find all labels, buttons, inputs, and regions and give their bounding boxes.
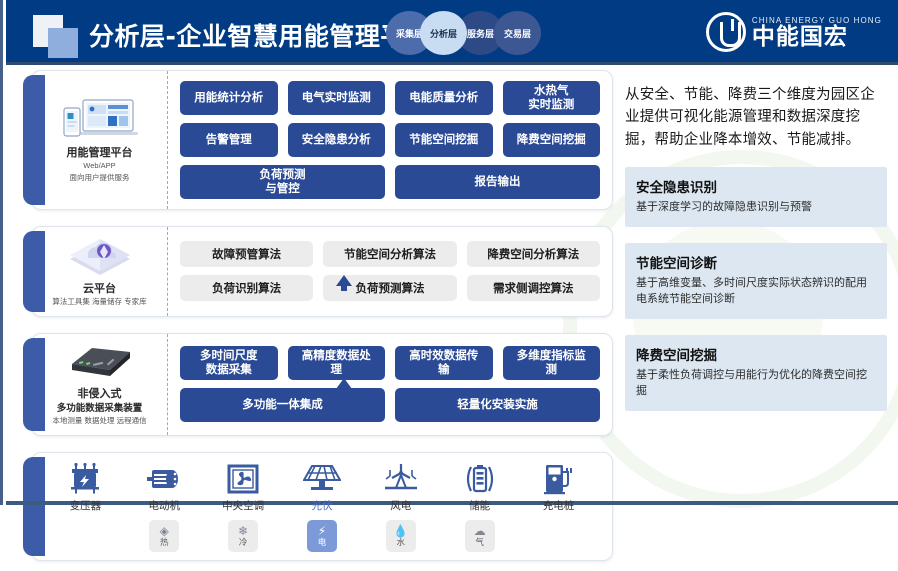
feature-card-title: 节能空间诊断	[636, 252, 876, 272]
device-label: 电动机	[149, 498, 181, 513]
tag-item[interactable]: 多时间尺度 数据采集	[180, 346, 278, 380]
panel-identity-device: 非侵入式 多功能数据采集装置 本地测量 数据处理 远程通信	[32, 334, 168, 435]
layer-circle-analysis[interactable]: 分析层	[420, 11, 467, 55]
panel-subtitle-2: 面向用户提供服务	[70, 173, 130, 184]
chip-placeholder	[70, 520, 100, 552]
tag-item[interactable]: 告警管理	[180, 123, 278, 157]
tag-item[interactable]: 故障预管算法	[180, 241, 313, 267]
chip-label: 电	[318, 538, 327, 547]
cold-icon: ❄	[238, 525, 248, 537]
panel-subtitle-1: 算法工具集 海量储存 专家库	[52, 297, 146, 308]
device-label: 变压器	[70, 498, 102, 513]
motor-icon	[146, 463, 182, 495]
water-icon: 💧	[393, 525, 408, 537]
panel-tags-device: 多时间尺度 数据采集 高精度数据处理 高时效数据传输 多维度指标监测 多功能一体…	[168, 334, 612, 435]
device-label: 储能	[469, 498, 490, 513]
ev-charger-icon	[541, 463, 575, 495]
tag-item[interactable]: 轻量化安装实施	[395, 388, 600, 422]
hvac-icon	[227, 463, 259, 495]
tag-item[interactable]: 电气实时监测	[288, 81, 386, 115]
device-charger[interactable]: 充电桩	[522, 463, 594, 552]
tag-item[interactable]: 用能统计分析	[180, 81, 278, 115]
feature-card-title: 降费空间挖掘	[636, 344, 876, 364]
tag-item[interactable]: 安全隐患分析	[288, 123, 386, 157]
transformer-icon	[68, 463, 102, 495]
device-wind[interactable]: 风电 💧 水	[365, 463, 437, 552]
laptop-dashboard-icon	[61, 97, 139, 141]
device-label: 中央空调	[222, 498, 264, 513]
chip-label: 气	[475, 538, 484, 547]
cloud-platform-icon	[64, 235, 136, 277]
tag-item[interactable]: 多功能一体集成	[180, 388, 385, 422]
intro-paragraph: 从安全、节能、降费三个维度为园区企业提供可视化能源管理和数据深度挖掘，帮助企业降…	[625, 84, 887, 151]
logo-square-blue	[48, 28, 78, 58]
panel-title: 非侵入式	[78, 387, 122, 401]
panel-tags-cloud: 故障预管算法 节能空间分析算法 降费空间分析算法 负荷识别算法 负荷预测算法 需…	[168, 227, 612, 316]
device-label: 充电桩	[543, 498, 575, 513]
tag-item[interactable]: 水热气 实时监测	[503, 81, 601, 115]
power-icon: ⚡	[318, 525, 326, 537]
flow-arrow-up	[336, 181, 352, 192]
device-label: 风电	[390, 498, 411, 513]
panel-identity-platform: 用能管理平台 Web/APP 面向用户提供服务	[32, 71, 168, 209]
energy-chip-water[interactable]: 💧 水	[386, 520, 416, 552]
gas-icon: ☁	[474, 525, 486, 537]
header-underline	[6, 62, 898, 65]
flow-arrow-up	[336, 275, 352, 286]
layer-panel-cloud: 云平台 算法工具集 海量储存 专家库 故障预管算法 节能空间分析算法 降费空间分…	[31, 226, 613, 317]
panel-title: 云平台	[83, 282, 116, 296]
company-mark-icon	[706, 12, 746, 52]
panel-identity-cloud: 云平台 算法工具集 海量储存 专家库	[32, 227, 168, 316]
feature-card-desc: 基于柔性负荷调控与用能行为优化的降费空间挖掘	[636, 367, 876, 400]
battery-icon	[463, 463, 497, 495]
device-transformer[interactable]: 变压器	[49, 463, 121, 552]
chip-label: 热	[160, 538, 169, 547]
tag-item[interactable]: 负荷预测 与管控	[180, 165, 385, 199]
feature-card-desc: 基于深度学习的故障隐患识别与预警	[636, 199, 876, 216]
panel-subtitle-1: 多功能数据采集装置	[57, 402, 143, 415]
chip-label: 冷	[239, 538, 248, 547]
solar-panel-icon	[303, 463, 341, 495]
feature-card-title: 安全隐患识别	[636, 176, 876, 196]
right-column: 从安全、节能、降费三个维度为园区企业提供可视化能源管理和数据深度挖掘，帮助企业降…	[625, 84, 887, 411]
flow-arrow-up	[336, 378, 352, 389]
tag-item[interactable]: 报告输出	[395, 165, 600, 199]
layer-stack: 用能管理平台 Web/APP 面向用户提供服务 用能统计分析 电气实时监测 电能…	[31, 70, 613, 571]
tag-item[interactable]: 降费空间分析算法	[467, 241, 600, 267]
tag-item[interactable]: 需求侧调控算法	[467, 275, 600, 301]
device-motor[interactable]: 电动机 ◈ 热	[128, 463, 200, 552]
layer-panel-device: 非侵入式 多功能数据采集装置 本地测量 数据处理 远程通信 多时间尺度 数据采集…	[31, 333, 613, 436]
tag-item[interactable]: 电能质量分析	[395, 81, 493, 115]
tag-item[interactable]: 节能空间分析算法	[323, 241, 456, 267]
device-hvac[interactable]: 中央空调 ❄ 冷	[207, 463, 279, 552]
chip-placeholder	[543, 520, 573, 552]
feature-card-cost: 降费空间挖掘 基于柔性负荷调控与用能行为优化的降费空间挖掘	[625, 335, 887, 411]
device-row: 变压器	[32, 453, 612, 560]
device-label: 光伏	[311, 498, 332, 513]
feature-card-efficiency: 节能空间诊断 基于高维变量、多时间尺度实际状态辨识的配用电系统节能空间诊断	[625, 243, 887, 319]
company-name-cn: 中能国宏	[752, 26, 882, 49]
tag-item[interactable]: 负荷识别算法	[180, 275, 313, 301]
heat-icon: ◈	[160, 525, 169, 537]
data-collector-box-icon	[62, 342, 138, 382]
panel-subtitle-2: 本地测量 数据处理 远程通信	[52, 416, 146, 427]
tag-item[interactable]: 高精度数据处理	[288, 346, 386, 380]
energy-chip-power[interactable]: ⚡ 电	[307, 520, 337, 552]
feature-card-desc: 基于高维变量、多时间尺度实际状态辨识的配用电系统节能空间诊断	[636, 275, 876, 308]
chip-label: 水	[397, 538, 406, 547]
slide-root: 分析层-企业智慧用能管理平台 采集层 服务层 交易层 分析层 CHINA ENE…	[0, 0, 898, 505]
panel-tags-platform: 用能统计分析 电气实时监测 电能质量分析 水热气 实时监测 告警管理 安全隐患分…	[168, 71, 612, 209]
energy-chip-heat[interactable]: ◈ 热	[149, 520, 179, 552]
panel-subtitle-1: Web/APP	[83, 161, 115, 172]
tag-item[interactable]: 多维度指标监测	[503, 346, 601, 380]
wind-turbine-icon	[383, 463, 419, 495]
layer-circle-trade[interactable]: 交易层	[494, 11, 541, 55]
device-storage[interactable]: 储能 ☁ 气	[444, 463, 516, 552]
tag-item[interactable]: 降费空间挖掘	[503, 123, 601, 157]
page-title: 分析层-企业智慧用能管理平台	[89, 17, 431, 53]
panel-title: 用能管理平台	[67, 146, 133, 160]
energy-chip-cold[interactable]: ❄ 冷	[228, 520, 258, 552]
company-logo: CHINA ENERGY GUO HONG 中能国宏	[706, 12, 882, 52]
device-solar[interactable]: 光伏 ⚡ 电	[286, 463, 358, 552]
tag-item[interactable]: 高时效数据传输	[395, 346, 493, 380]
layer-panel-platform: 用能管理平台 Web/APP 面向用户提供服务 用能统计分析 电气实时监测 电能…	[31, 70, 613, 210]
feature-card-safety: 安全隐患识别 基于深度学习的故障隐患识别与预警	[625, 167, 887, 227]
tag-item[interactable]: 节能空间挖掘	[395, 123, 493, 157]
energy-chip-gas[interactable]: ☁ 气	[465, 520, 495, 552]
layer-panel-devices: 变压器	[31, 452, 613, 561]
